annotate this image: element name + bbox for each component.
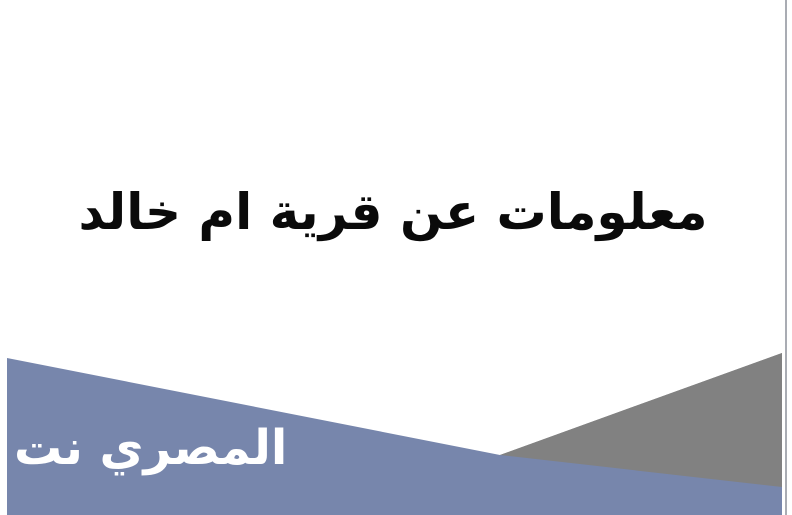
page-title: معلومات عن قرية ام خالد — [0, 183, 786, 242]
page-edge-rule — [785, 0, 787, 515]
gray-angled-wedge-shape — [500, 353, 782, 492]
watermark-label: المصري نت — [14, 424, 287, 472]
slide-canvas: معلومات عن قرية ام خالد المصري نت — [0, 0, 792, 515]
title-block: معلومات عن قرية ام خالد — [0, 183, 786, 242]
slide-body: معلومات عن قرية ام خالد المصري نت — [0, 0, 786, 515]
watermark: المصري نت — [14, 424, 287, 472]
gray-angled-wedge-shape-body — [500, 353, 782, 486]
